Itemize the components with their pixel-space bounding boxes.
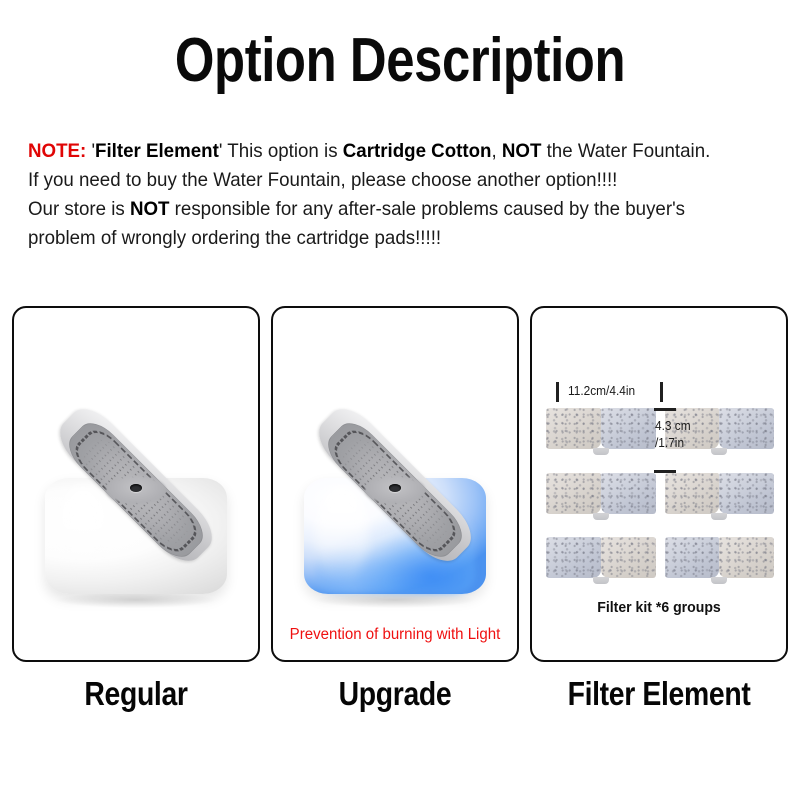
option-label-regular: Regular: [29, 672, 242, 722]
filter-pad-right: [719, 537, 774, 578]
note-mid-1: This option is: [227, 140, 342, 162]
note-label: NOTE:: [28, 140, 86, 162]
filter-group: [546, 473, 656, 514]
upgrade-light-caption: Prevention of burning with Light: [277, 626, 514, 644]
filter-group: [546, 408, 656, 449]
fountain-shadow: [57, 592, 215, 608]
filter-pad-left: [546, 537, 601, 578]
note-not-emphasis-2: NOT: [130, 198, 170, 220]
dimension-bar-bottom-icon: [654, 470, 676, 473]
filter-pad-left: [665, 537, 720, 578]
option-panel-regular[interactable]: [12, 306, 260, 662]
note-line-3-pre: Our store is: [28, 198, 130, 220]
filter-height-label-cm: 4.3 cm: [655, 419, 691, 433]
filter-pad-tab: [593, 513, 609, 520]
option-labels-row: Regular Upgrade Filter Element: [12, 672, 788, 722]
note-not-emphasis-1: NOT: [502, 140, 542, 162]
fountain-center-hole: [389, 484, 401, 492]
filter-pad-left: [665, 473, 720, 514]
filter-pad-left: [546, 408, 601, 449]
product-option-panels: Prevention of burning with Light 11.2cm/…: [12, 306, 788, 662]
dimension-bar-top-icon: [654, 408, 676, 411]
filter-pad-right: [719, 473, 774, 514]
dimension-tick-left-icon: [556, 382, 559, 402]
note-line-4: problem of wrongly ordering the cartridg…: [28, 224, 758, 253]
note-product-name: Cartridge Cotton: [343, 140, 492, 162]
note-line-3-post: responsible for any after-sale problems …: [169, 198, 685, 220]
note-mid-2: ,: [491, 140, 501, 162]
fountain-shadow: [316, 592, 474, 608]
dimension-tick-right-icon: [660, 382, 663, 402]
filter-pad-tab: [593, 448, 609, 455]
filter-kit-image: 11.2cm/4.4in 4.3 cm /1.7in: [546, 382, 774, 592]
option-panel-filter-element[interactable]: 11.2cm/4.4in 4.3 cm /1.7in: [530, 306, 788, 662]
filter-pad-right: [601, 408, 656, 449]
water-fountain-image-upgrade: [290, 420, 500, 610]
note-quote-close: ': [219, 140, 227, 162]
note-line-3: Our store is NOT responsible for any aft…: [28, 195, 758, 224]
note-option-name: Filter Element: [95, 140, 219, 162]
filter-pad-tab: [711, 577, 727, 584]
note-quote-open: ': [86, 140, 95, 162]
filter-width-dimension: 11.2cm/4.4in: [556, 382, 666, 404]
filter-kit-caption: Filter kit *6 groups: [536, 600, 782, 616]
filter-pad-right: [601, 537, 656, 578]
filter-height-label-in: /1.7in: [655, 436, 684, 450]
water-fountain-image-regular: [31, 420, 241, 610]
note-line-1: NOTE: 'Filter Element' This option is Ca…: [28, 137, 758, 166]
note-line-1-tail: the Water Fountain.: [541, 140, 710, 162]
filter-group: [546, 537, 656, 578]
filter-group: [665, 537, 775, 578]
filter-pad-left: [546, 473, 601, 514]
fountain-center-hole: [130, 484, 142, 492]
note-block: NOTE: 'Filter Element' This option is Ca…: [28, 137, 758, 253]
filter-pad-tab: [593, 577, 609, 584]
filter-group: [665, 473, 775, 514]
page-title: Option Description: [72, 26, 728, 96]
filter-pad-right: [601, 473, 656, 514]
note-line-2: If you need to buy the Water Fountain, p…: [28, 166, 758, 195]
option-label-filter-element: Filter Element: [548, 672, 770, 722]
option-panel-upgrade[interactable]: Prevention of burning with Light: [271, 306, 519, 662]
filter-pad-right: [719, 408, 774, 449]
filter-height-label: 4.3 cm /1.7in: [655, 418, 691, 452]
filter-pad-tab: [711, 513, 727, 520]
filter-width-label: 11.2cm/4.4in: [568, 384, 635, 398]
option-label-upgrade: Upgrade: [288, 672, 501, 722]
filter-height-dimension: 4.3 cm /1.7in: [654, 408, 724, 474]
